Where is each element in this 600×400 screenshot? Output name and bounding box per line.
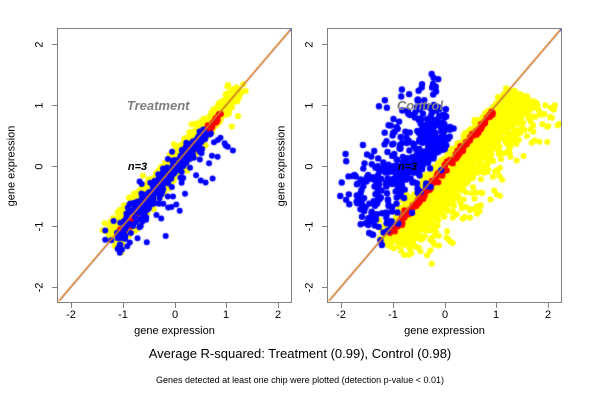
- x-tick-mark: [548, 303, 549, 308]
- y-tick-mark: [322, 44, 327, 45]
- y-tick-mark: [322, 287, 327, 288]
- x-axis-title-control: gene expression: [327, 325, 562, 337]
- x-tick-mark: [496, 303, 497, 308]
- y-axis-title-control: gene expression: [275, 28, 287, 303]
- figure-caption-sub: Genes detected at least one chip were pl…: [0, 375, 600, 385]
- y-tick-label: 2: [305, 34, 316, 56]
- y-tick-label: 1: [305, 95, 316, 117]
- y-tick-mark: [322, 226, 327, 227]
- y-tick-mark: [322, 166, 327, 167]
- y-tick-mark: [322, 105, 327, 106]
- scatter-canvas-control: [328, 29, 561, 302]
- x-tick-label: 1: [483, 310, 509, 321]
- panel-control: -2-1012-2-1012 Control n=3 gene expressi…: [0, 0, 600, 400]
- y-tick-label: -1: [305, 216, 316, 238]
- x-tick-mark: [341, 303, 342, 308]
- x-tick-label: -1: [380, 310, 406, 321]
- figure-caption-main: Average R-squared: Treatment (0.99), Con…: [0, 346, 600, 361]
- x-tick-label: 2: [535, 310, 561, 321]
- x-tick-label: 0: [432, 310, 458, 321]
- x-tick-mark: [445, 303, 446, 308]
- y-tick-label: 0: [305, 156, 316, 178]
- plot-area-control: [327, 28, 562, 303]
- figure-root: -2-1012-2-1012 Treatment n=3 gene expres…: [0, 0, 600, 400]
- y-tick-label: -2: [305, 277, 316, 299]
- x-tick-label: -2: [328, 310, 354, 321]
- x-tick-mark: [393, 303, 394, 308]
